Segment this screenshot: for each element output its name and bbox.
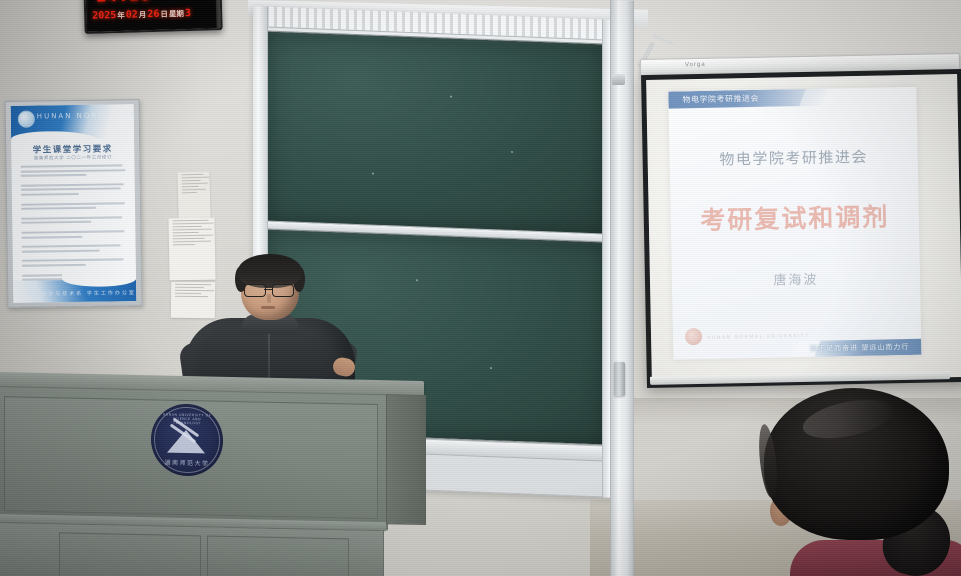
presenter-nose [267, 294, 271, 303]
slide-footer-text: 知不足而奋进 望远山而力行 [810, 342, 909, 354]
clock-year: 2025 [92, 10, 116, 22]
clock-case-edge [215, 0, 221, 28]
presenter-at-podium [185, 258, 355, 382]
podium-university-emblem: HUNAN UNIVERSITY OF SCIENCE AND TECHNOLO… [151, 403, 223, 477]
clock-date: 2025 年 02 月 26 日 星期 3 [92, 4, 220, 24]
clock-day: 26 [147, 8, 159, 19]
clock-month: 02 [126, 9, 138, 20]
audience-hair [764, 388, 949, 540]
clock-screen: 14:29 2025 年 02 月 26 日 星期 3 [87, 0, 218, 30]
glasses-lens-left-icon [244, 284, 266, 297]
emblem-mountain-icon [165, 428, 209, 455]
wall-vertical-post [610, 0, 634, 576]
slide-presenter-name: 唐海波 [672, 267, 920, 291]
screen-surface: 物电学院考研推进会 物电学院考研推进会 考研复试和调剂 唐海波 HUNAN NO… [646, 74, 961, 383]
university-logo-icon [18, 111, 35, 128]
clock-weekday-value: 3 [185, 7, 191, 18]
classroom-photo: 14:29 2025 年 02 月 26 日 星期 3 HUNAN NORMAL… [0, 0, 961, 576]
wall-notice-small [177, 172, 210, 219]
emblem-university-name: 湖南师范大学 [151, 457, 223, 468]
clock-month-unit: 月 [139, 9, 147, 20]
post-bracket-icon [612, 74, 625, 85]
lecture-podium [0, 372, 424, 576]
slide-logo-caption: HUNAN NORMAL UNIVERSITY [707, 334, 809, 341]
poster-university-name: HUNAN NORMAL UNIVERSITY [37, 110, 137, 120]
poster-sheet: HUNAN NORMAL UNIVERSITY 学生课堂学习要求 湖南师范大学 … [11, 104, 137, 303]
post-latch-icon [614, 362, 625, 396]
audience-member-foreground [756, 388, 961, 576]
audience-hair-highlight [799, 393, 896, 445]
clock-year-unit: 年 [117, 9, 125, 20]
podium-base [0, 522, 384, 576]
slide-main-title: 考研复试和调剂 [670, 197, 919, 238]
poster-subtitle: 湖南师范大学 二〇二一年三月修订 [11, 154, 134, 162]
chalkboard-panel-upper [267, 31, 606, 236]
podium-drawer-left [59, 532, 201, 576]
framed-wall-poster: HUNAN NORMAL UNIVERSITY 学生课堂学习要求 湖南师范大学 … [5, 99, 143, 308]
podium-side-panel [386, 394, 426, 525]
slide-heading: 物电学院考研推进会 [669, 145, 917, 171]
podium-drawer-right [207, 535, 349, 576]
screen-brand-label: Vorga [685, 62, 706, 68]
projector-screen: 物电学院考研推进会 物电学院考研推进会 考研复试和调剂 唐海波 HUNAN NO… [641, 69, 961, 388]
poster-body-text [20, 164, 128, 278]
presenter-mouth [261, 306, 275, 309]
presenter-eyebrow-left [246, 280, 261, 282]
presenter-eyebrow-right [274, 280, 289, 282]
slide-banner-title: 物电学院考研推进会 [682, 93, 759, 105]
slide-university-logo-icon [685, 328, 702, 345]
presenter-hair [238, 254, 302, 288]
clock-day-unit: 日 [160, 8, 168, 19]
presentation-slide: 物电学院考研推进会 物电学院考研推进会 考研复试和调剂 唐海波 HUNAN NO… [668, 87, 921, 360]
led-wall-clock: 14:29 2025 年 02 月 26 日 星期 3 [83, 0, 222, 34]
glasses-lens-right-icon [272, 284, 294, 297]
clock-weekday-label: 星期 [169, 8, 184, 19]
glasses-bridge-icon [264, 289, 272, 290]
